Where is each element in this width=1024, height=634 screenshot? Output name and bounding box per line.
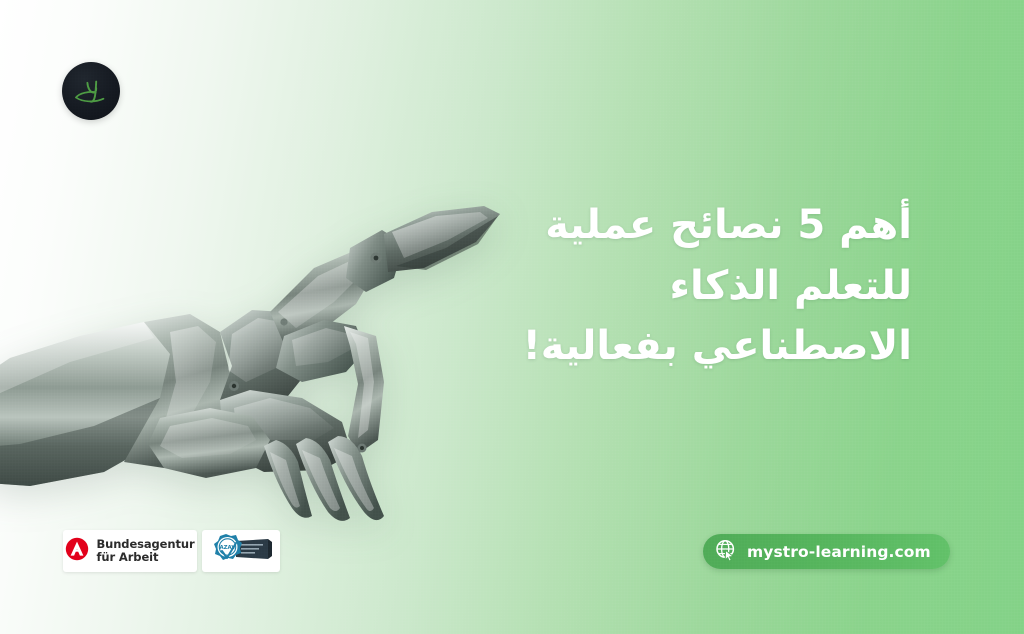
mystro-script-y-logo-icon: [69, 69, 113, 113]
badge-bundesagentur-fuer-arbeit: Bundesagentur für Arbeit: [63, 530, 197, 572]
headline-line-2: للتعلم الذكاء: [352, 256, 912, 317]
badge-bundesagentur-label: Bundesagentur für Arbeit: [96, 538, 194, 564]
globe-cursor-icon: [715, 539, 737, 565]
azav-certification-seal-icon: AZAV: [210, 532, 272, 570]
bundesagentur-fuer-arbeit-icon: [65, 537, 89, 565]
headline-line-3: الاصطناعي بفعالية!: [352, 316, 912, 377]
badge-line-2: für Arbeit: [96, 550, 158, 564]
accreditation-badges: Bundesagentur für Arbeit AZAV: [63, 530, 280, 572]
brand-logo[interactable]: [62, 62, 120, 120]
website-pill[interactable]: mystro-learning.com: [703, 534, 950, 569]
website-url-label: mystro-learning.com: [747, 543, 931, 561]
headline-line-1: أهم 5 نصائح عملية: [352, 195, 912, 256]
promo-banner: أهم 5 نصائح عملية للتعلم الذكاء الاصطناع…: [0, 0, 1024, 634]
headline: أهم 5 نصائح عملية للتعلم الذكاء الاصطناع…: [352, 195, 912, 377]
badge-azav-certification: AZAV: [202, 530, 280, 572]
